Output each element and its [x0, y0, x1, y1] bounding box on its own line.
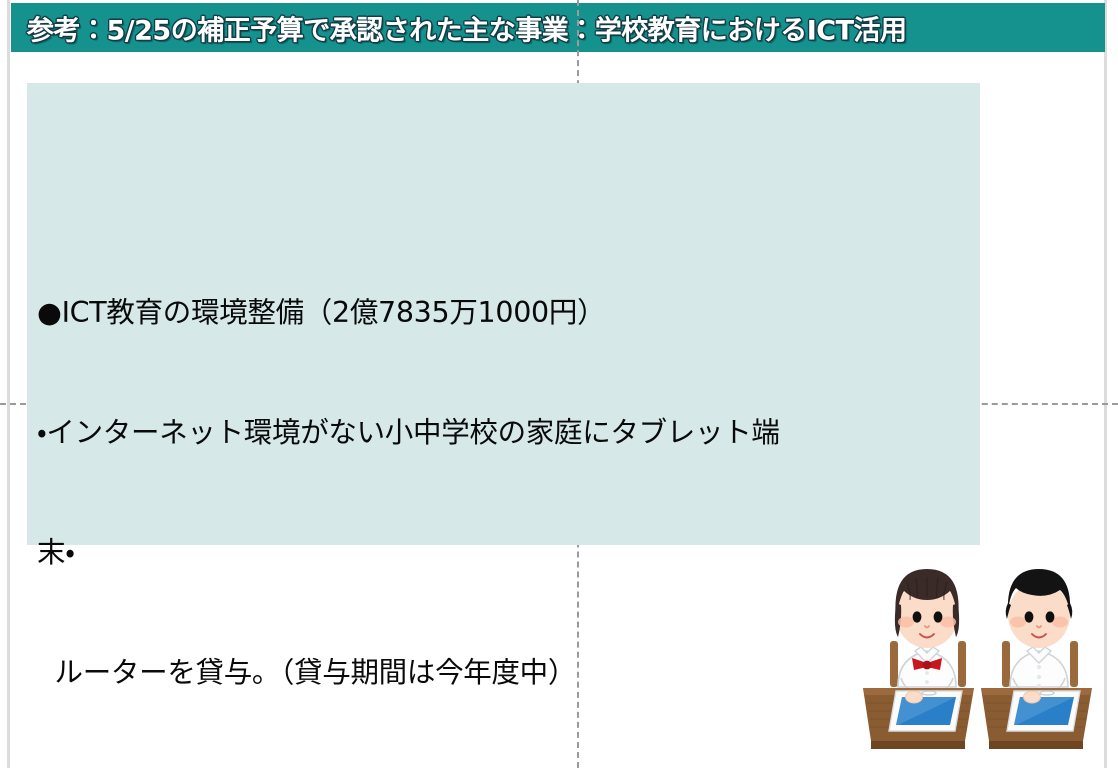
students-tablets-illustration: [857, 545, 1115, 768]
content-text: ●ICT教育の環境整備（2億7835万1000円） ・インターネット環境がない小…: [37, 93, 982, 768]
block-line: 末・: [37, 533, 982, 573]
header-bar: 参考：5/25の補正予算で承認された主な事業：学校教育におけるICT活用: [11, 3, 1105, 52]
block-line: ・インターネット環境がない小中学校の家庭にタブレット端: [37, 413, 982, 453]
block-line: ルーターを貸与。（貸与期間は今年度中）: [37, 653, 982, 693]
page-rule-left: [7, 0, 10, 768]
content-block: ●ICT教育の環境整備（2億7835万1000円） ・インターネット環境がない小…: [37, 213, 982, 768]
slide-canvas: 参考：5/25の補正予算で承認された主な事業：学校教育におけるICT活用 ●IC…: [0, 0, 1118, 768]
block-heading: ●ICT教育の環境整備（2億7835万1000円）: [37, 293, 982, 333]
content-panel: ●ICT教育の環境整備（2億7835万1000円） ・インターネット環境がない小…: [27, 83, 980, 545]
page-title: 参考：5/25の補正予算で承認された主な事業：学校教育におけるICT活用: [27, 8, 907, 47]
